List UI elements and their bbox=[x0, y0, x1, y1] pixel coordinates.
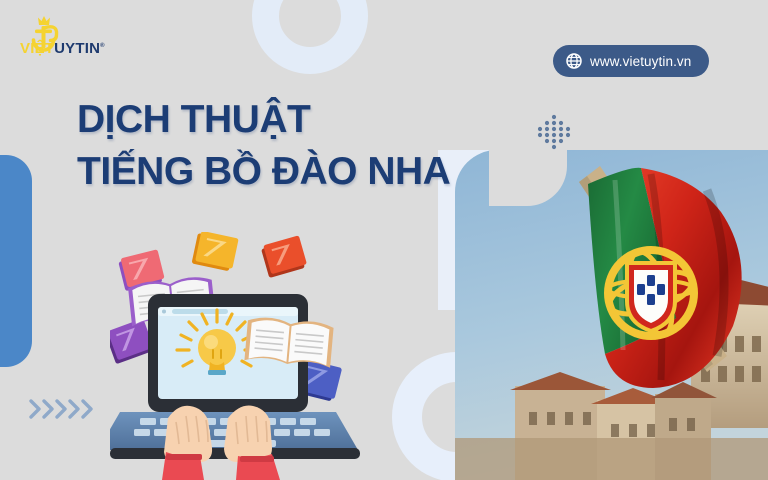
flag-coat-of-arms bbox=[605, 247, 697, 339]
logo-word-uytin: UYTIN bbox=[54, 40, 100, 57]
brand-logo-text: VIỆTUYTIN® bbox=[20, 40, 105, 57]
logo-word-viet: VIỆT bbox=[20, 40, 54, 57]
decorative-left-tab bbox=[0, 155, 32, 367]
decorative-ring-top bbox=[252, 0, 368, 74]
website-url-badge[interactable]: www.vietuytin.vn bbox=[553, 45, 709, 77]
globe-icon bbox=[566, 53, 582, 69]
book-yellow bbox=[192, 232, 239, 272]
headline-line-2: TIẾNG BỒ ĐÀO NHA bbox=[77, 152, 497, 192]
book-red bbox=[260, 235, 308, 278]
registered-mark: ® bbox=[100, 43, 105, 49]
website-url-text: www.vietuytin.vn bbox=[590, 54, 691, 69]
headline-line-1: DỊCH THUẬT bbox=[77, 100, 497, 140]
chevron-arrows-icon bbox=[28, 396, 98, 427]
banner-canvas: VIỆTUYTIN® www.vietuytin.vn DỊCH THUẬT T… bbox=[0, 0, 768, 480]
laptop-learning-illustration bbox=[110, 232, 360, 480]
headline-block: DỊCH THUẬT TIẾNG BỒ ĐÀO NHA bbox=[77, 100, 497, 192]
